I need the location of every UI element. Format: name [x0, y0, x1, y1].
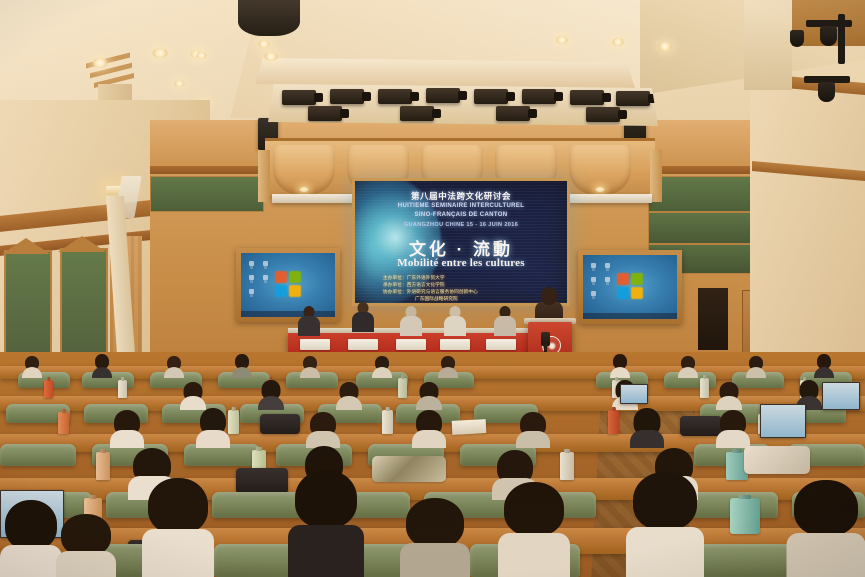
panelist-body [298, 316, 320, 336]
panelist [352, 302, 374, 332]
person-shoulders [516, 431, 550, 448]
spotlight-fixture [790, 30, 804, 47]
spotlight-fixture [820, 26, 837, 46]
person-shoulders [372, 367, 392, 378]
person-shoulders [56, 551, 116, 577]
ceiling-duct [238, 0, 300, 36]
audience-member [716, 410, 750, 448]
person-shoulders [626, 527, 704, 577]
water-bottle [118, 380, 127, 398]
audience-member [288, 470, 364, 577]
screen-line-3: GUANGZHOU CHINE 15 - 16 JUIN 2016 [355, 222, 567, 228]
person-shoulders [716, 396, 742, 410]
audience-member [300, 356, 320, 378]
audience-member [306, 412, 340, 448]
person-head [633, 472, 697, 530]
panel-triangle-cap [58, 236, 106, 252]
acoustic-band-right-2 [648, 212, 752, 244]
screen-organizer-4: 广东国际战略研究院 [415, 296, 458, 302]
water-bottle [44, 380, 53, 398]
person-shoulders [438, 367, 458, 378]
person-head [61, 514, 111, 556]
folded-garment [744, 446, 810, 474]
name-card [396, 339, 426, 350]
valance-bay [569, 145, 631, 195]
person-shoulders [196, 430, 230, 448]
laptop[interactable] [620, 384, 648, 404]
person-head [5, 500, 57, 550]
desktop-icon [605, 277, 610, 282]
desktop-icon [263, 275, 268, 280]
name-card [348, 339, 378, 350]
person-shoulders [630, 430, 664, 448]
water-bottle [398, 378, 407, 398]
panelist [494, 306, 516, 336]
panelist-body [352, 312, 374, 332]
panel-triangle-cap [2, 238, 50, 254]
water-bottle [608, 410, 619, 434]
stage-light-rail [268, 84, 658, 126]
laptop[interactable] [760, 404, 806, 438]
person-shoulders [142, 529, 214, 577]
ceiling-soffit [255, 58, 635, 88]
audience-member [516, 412, 550, 448]
audience-member [142, 478, 214, 577]
audience-member [786, 480, 865, 577]
acoustic-band-right [648, 176, 752, 212]
ceiling-downlight [92, 58, 108, 68]
ceiling-downlight [196, 52, 207, 59]
cup [730, 498, 760, 534]
spotlight-fixture [818, 82, 835, 102]
audience-member [196, 408, 230, 448]
audience-member [814, 354, 834, 378]
person-head [148, 478, 208, 534]
audience-member [180, 382, 206, 410]
audience-member [0, 500, 62, 577]
wall-niche [698, 288, 728, 350]
audience-member [498, 482, 570, 577]
ceiling-downlight [658, 42, 672, 51]
valance-bay [273, 145, 335, 195]
person-head [295, 470, 357, 528]
person-shoulders [400, 543, 470, 577]
taskbar [241, 311, 335, 317]
water-bottle [382, 410, 393, 434]
conference-hall-photo: 第八届中法跨文化研讨会 HUITIEME SEMINAIRE INTERCULT… [0, 0, 865, 577]
person-shoulders [416, 396, 442, 410]
audience-member [164, 356, 184, 378]
audience-member [372, 356, 392, 378]
valance-pillar-left [258, 150, 270, 202]
left-screen-wallpaper [241, 253, 335, 317]
stage-light-fixture [426, 88, 460, 103]
person-shoulders [110, 430, 144, 448]
ceiling-downlight [264, 52, 278, 61]
water-bottle [700, 378, 709, 398]
screen-chinese-heading: 第八届中法跨文化研讨会 [355, 190, 567, 202]
screen-theme-french: Mobilité entre les cultures [355, 257, 567, 269]
name-card [300, 339, 330, 350]
person-head [794, 480, 858, 536]
stage-light-fixture [616, 91, 650, 106]
person-shoulders [610, 367, 630, 378]
backpack [260, 414, 300, 434]
stage-light-fixture [522, 89, 556, 104]
stage-light-fixture [474, 89, 508, 104]
person-shoulders [0, 545, 62, 577]
audience-member [678, 356, 698, 378]
right-wall [750, 86, 865, 386]
audience-member [610, 354, 630, 378]
audience-member [630, 408, 664, 448]
desktop-icon [591, 291, 596, 296]
person-head [504, 482, 564, 536]
screen-line-2: SINO-FRANÇAIS DE CANTON [355, 212, 567, 218]
person-head [406, 498, 464, 548]
right-balcony-face [744, 0, 792, 90]
person-shoulders [786, 533, 865, 577]
panelist-body [494, 316, 516, 336]
person-shoulders [498, 533, 570, 577]
screen-organizer-3: 协办单位：外语研究与语言服务协同创新中心 [383, 289, 478, 295]
stage-light-fixture [378, 89, 412, 104]
desktop-icon [249, 289, 254, 294]
left-projection-screen [236, 248, 340, 322]
person-shoulders [412, 430, 446, 448]
audience-member [56, 514, 116, 577]
taskbar [583, 313, 677, 319]
panelist-body [444, 316, 466, 336]
ceiling-downlight [258, 40, 270, 48]
person-shoulders [258, 396, 284, 410]
audience-member [412, 410, 446, 448]
person-shoulders [716, 430, 750, 448]
audience-member [400, 498, 470, 577]
name-card [486, 339, 516, 350]
desktop-icon [591, 263, 596, 268]
audience-member [746, 356, 766, 378]
stage-light-fixture [308, 106, 342, 121]
audience-member [22, 356, 42, 378]
handbag [236, 468, 288, 494]
person-shoulders [814, 367, 834, 378]
spotlight-bracket [838, 14, 845, 64]
laptop[interactable] [822, 382, 860, 410]
stage-light-fixture [570, 90, 604, 105]
audience-member [92, 354, 112, 378]
water-bottle [58, 412, 69, 434]
speaker-head [541, 287, 557, 305]
person-shoulders [746, 367, 766, 378]
stage-light-fixture [586, 107, 620, 122]
paper-stack [452, 419, 487, 435]
audience-member [110, 410, 144, 448]
folded-garment [372, 456, 446, 482]
audience-member [232, 354, 252, 378]
audience-member [336, 382, 362, 410]
person-shoulders [22, 367, 42, 378]
person-shoulders [164, 367, 184, 378]
audience-member [716, 382, 742, 410]
acoustic-band-left [150, 176, 264, 212]
windows-logo-icon [275, 271, 301, 297]
name-card [440, 339, 470, 350]
right-projection-screen [578, 250, 682, 324]
valance-downlight [300, 187, 309, 192]
panelist [444, 306, 466, 336]
desktop-icon [249, 275, 254, 280]
audience-member [438, 356, 458, 378]
screen-organizer-1: 主办单位：广东外语外贸大学 [383, 275, 445, 281]
screen-line-1: HUITIEME SEMINAIRE INTERCULTUREL [355, 203, 567, 209]
panelist-body [400, 316, 422, 336]
stage-light-fixture [496, 106, 530, 121]
right-screen-wallpaper [583, 255, 677, 319]
stage-light-fixture [282, 90, 316, 105]
ceiling-downlight [612, 38, 624, 46]
person-shoulders [300, 367, 320, 378]
audience-member [416, 382, 442, 410]
person-shoulders [232, 367, 252, 378]
person-shoulders [92, 367, 112, 378]
audience-member [258, 380, 284, 410]
person-shoulders [288, 525, 364, 577]
water-bottle [560, 452, 574, 480]
windows-logo-icon [617, 273, 643, 299]
stage-light-fixture [330, 89, 364, 104]
panelist [400, 306, 422, 336]
desktop-icon [605, 263, 610, 268]
panelist [298, 306, 320, 336]
seat-back [0, 444, 76, 466]
ceiling-downlight [174, 80, 185, 87]
main-stage-screen: 第八届中法跨文化研讨会 HUITIEME SEMINAIRE INTERCULT… [352, 178, 570, 306]
desktop-icon [263, 261, 268, 266]
ceiling-downlight [152, 48, 168, 58]
desktop-icon [591, 277, 596, 282]
person-shoulders [336, 396, 362, 410]
valance-downlight [596, 187, 605, 192]
desktop-icon [249, 261, 254, 266]
thermos-bottle [96, 452, 110, 480]
audience-member [626, 472, 704, 577]
ceiling-downlight [556, 36, 568, 44]
stage-light-fixture [400, 106, 434, 121]
screen-organizer-2: 承办单位：西方语言文化学院 [383, 282, 445, 288]
person-shoulders [678, 367, 698, 378]
